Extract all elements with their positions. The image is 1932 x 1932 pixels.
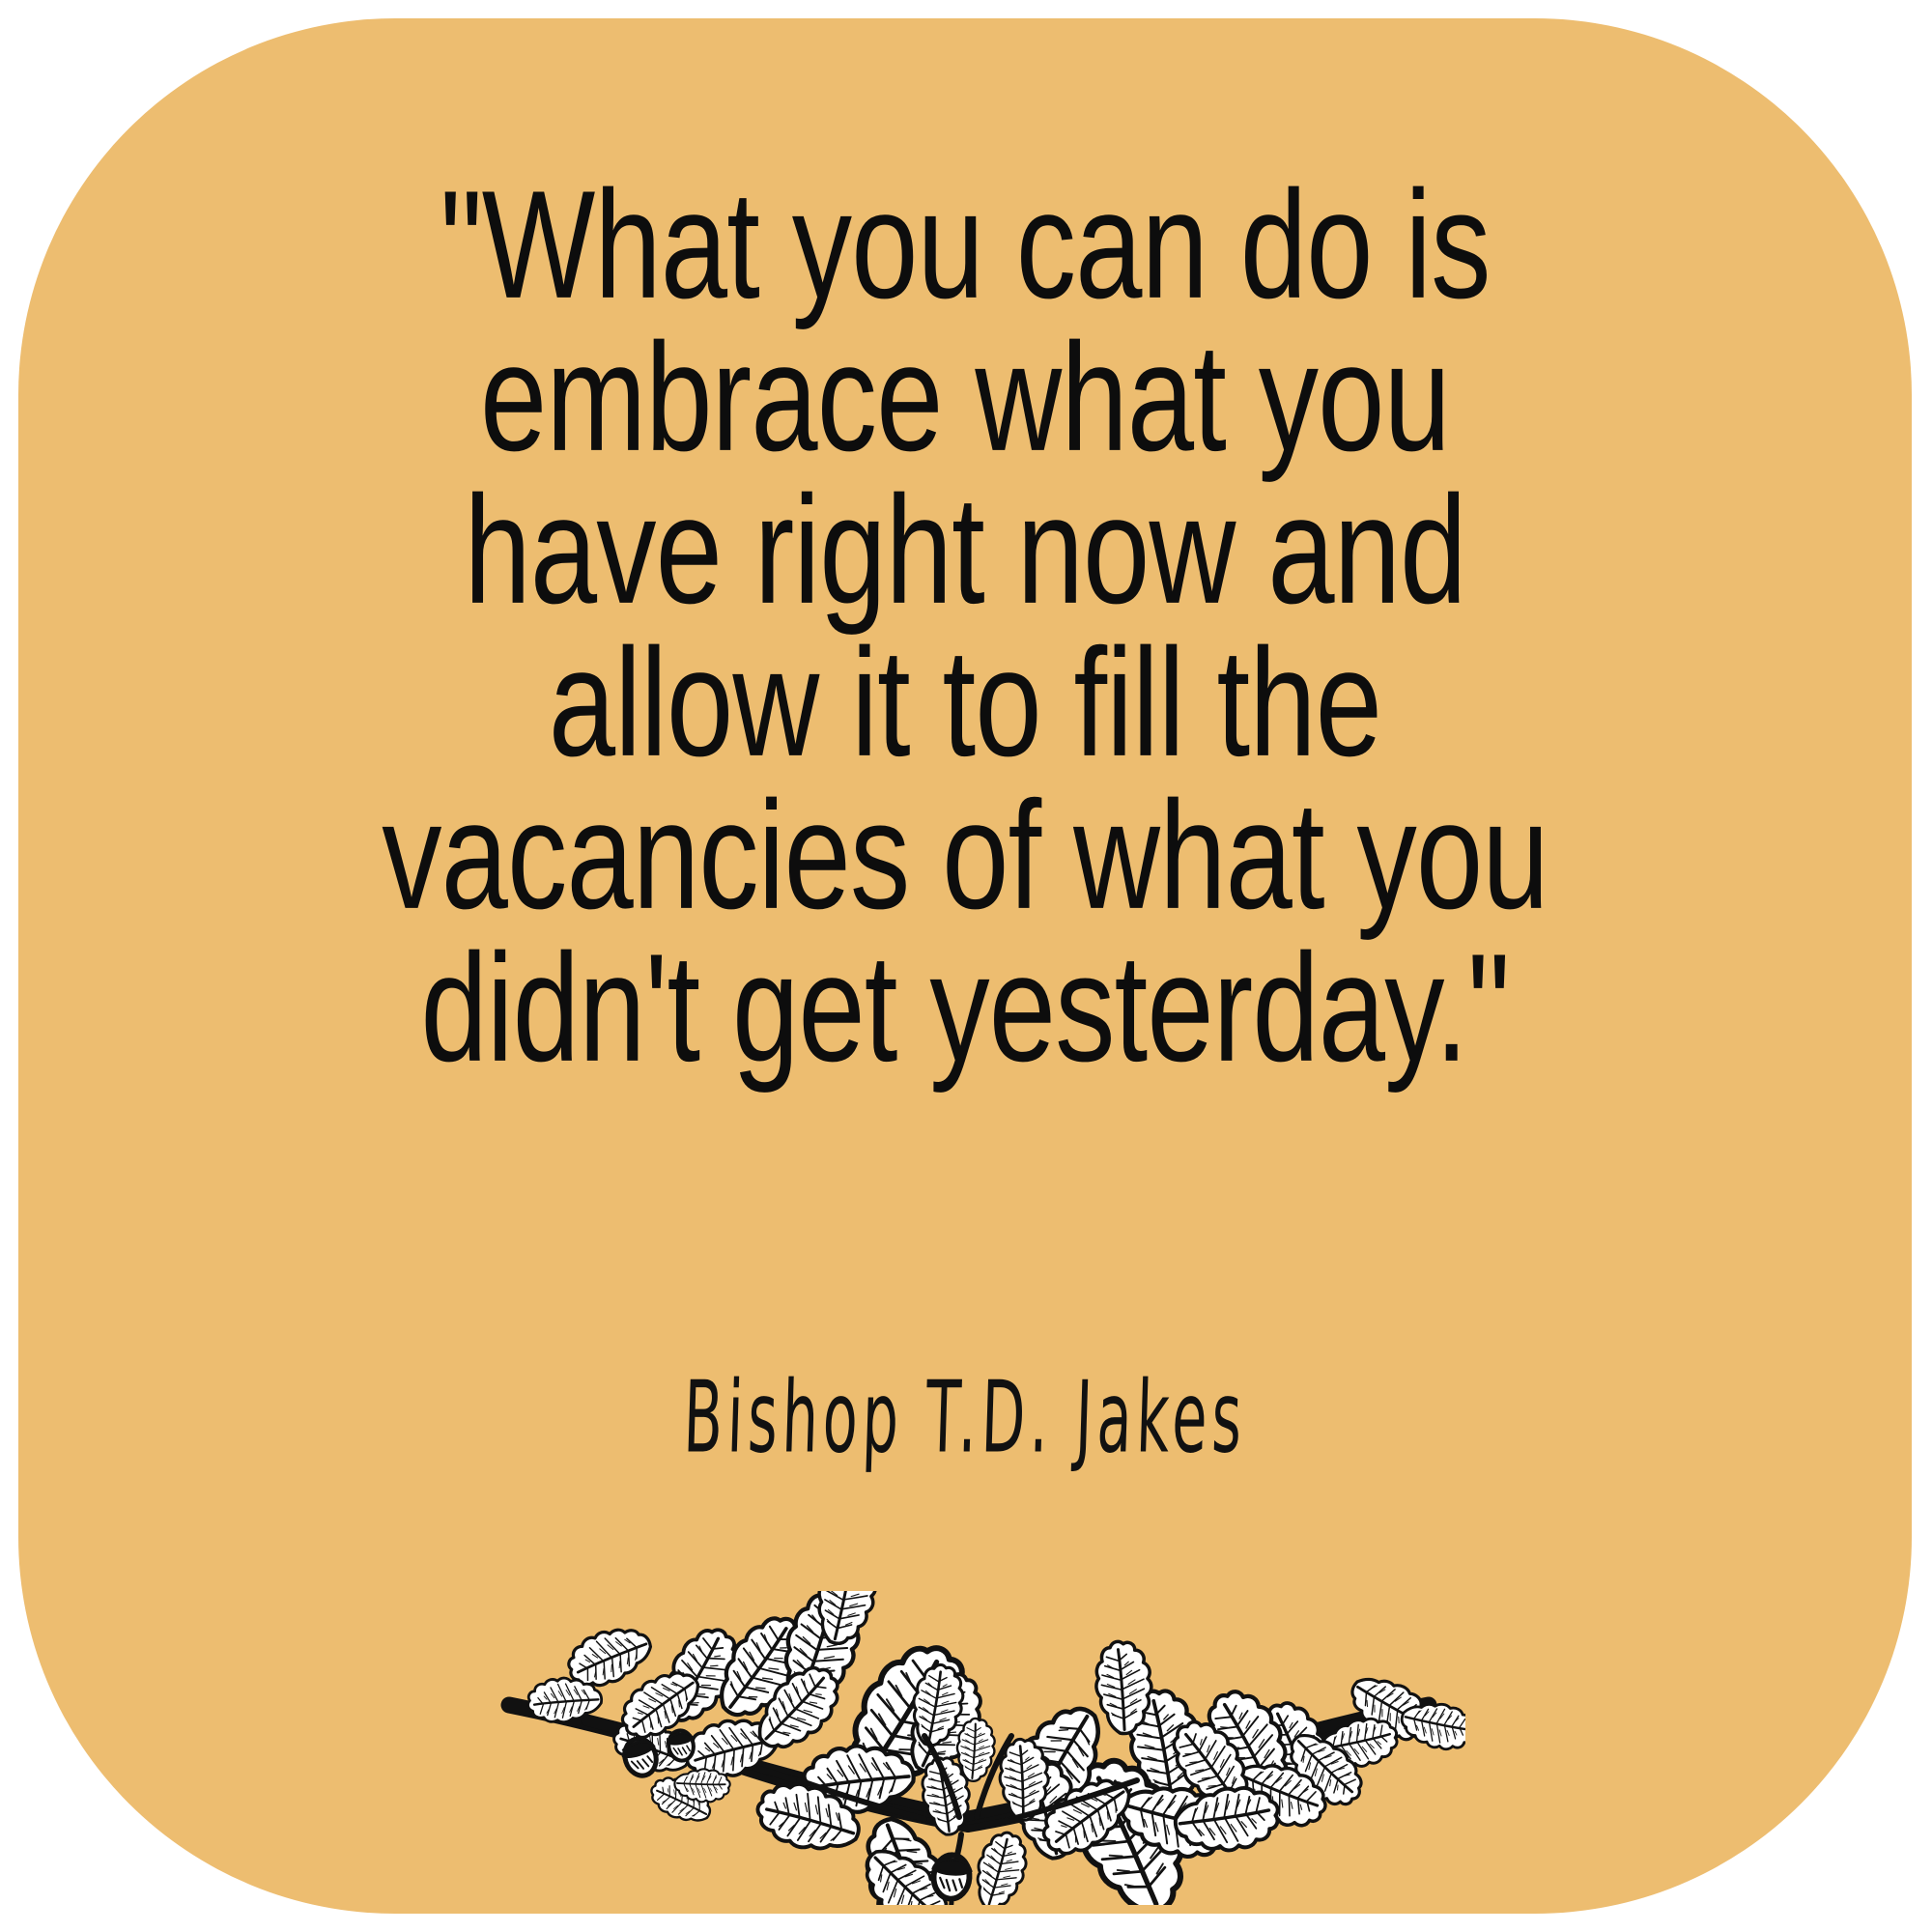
oak-leaf-branch-ornament <box>470 1591 1465 1905</box>
quote-line: vacancies of what you <box>180 774 1751 935</box>
quote-line: "What you can do is <box>180 163 1751 325</box>
quote-card: "What you can do is embrace what you hav… <box>18 18 1912 1914</box>
attribution-author-name: Bishop T.D. Jakes <box>682 1358 1248 1476</box>
quote-line: didn't get yesterday." <box>180 926 1751 1088</box>
quote-text-block: "What you can do is embrace what you hav… <box>18 163 1912 1079</box>
quote-line: have right now and <box>180 469 1751 630</box>
quote-line: embrace what you <box>180 316 1751 477</box>
attribution: Bishop T.D. Jakes <box>18 1369 1912 1465</box>
quote-line: allow it to fill the <box>180 621 1751 782</box>
